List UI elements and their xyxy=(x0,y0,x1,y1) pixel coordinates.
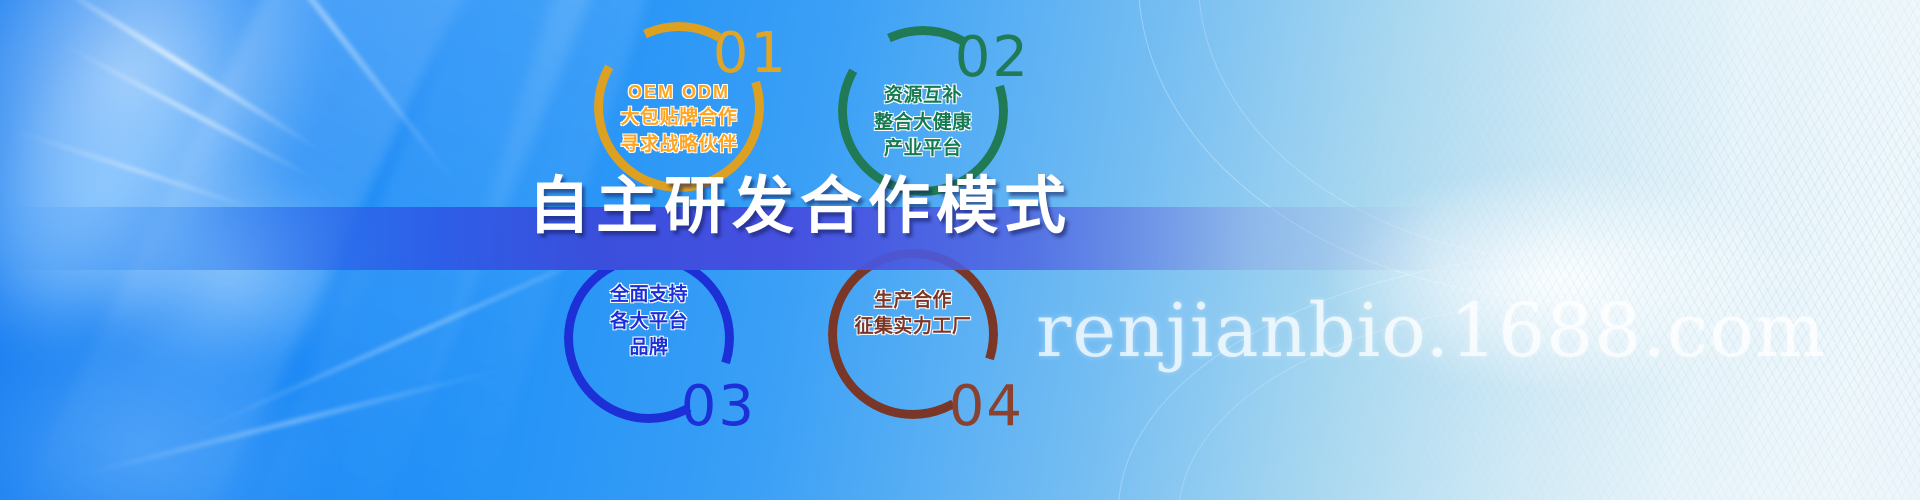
circle-line: 整合大健康 xyxy=(874,112,972,134)
light-streak xyxy=(35,0,326,155)
circle-line: 品牌 xyxy=(629,337,668,359)
feature-circle-01: 01 OEM ODM 大包贴牌合作 寻求战略伙伴 xyxy=(594,22,764,192)
circle-line: 资源互补 xyxy=(884,85,962,107)
right-glow xyxy=(1240,130,1880,430)
feature-circle-04: 04 生产合作 征集实力工厂 xyxy=(828,249,998,419)
circle-line: 全面支持 xyxy=(610,284,688,306)
promo-banner: 01 OEM ODM 大包贴牌合作 寻求战略伙伴 02 资源互补 整合大健康 产… xyxy=(0,0,1920,500)
circle-line: 大包贴牌合作 xyxy=(620,107,737,129)
circle-line: 生产合作 xyxy=(874,290,952,312)
light-streak xyxy=(198,0,461,190)
light-streak xyxy=(6,127,273,216)
watermark-text: renjianbio.1688.com xyxy=(1036,288,1826,374)
circle-line: 寻求战略伙伴 xyxy=(620,134,737,156)
feature-circle-03: 03 全面支持 各大平台 品牌 xyxy=(564,253,734,423)
circle-line: 产业平台 xyxy=(884,138,962,160)
circle-line: OEM ODM xyxy=(628,82,730,103)
swirl-shape xyxy=(0,250,400,500)
swirl-shape xyxy=(0,73,462,466)
light-streak xyxy=(66,364,514,480)
light-streak xyxy=(57,40,324,184)
circle-line: 各大平台 xyxy=(610,311,688,333)
page-title: 自主研发合作模式 xyxy=(528,176,1072,238)
feature-circle-02: 02 资源互补 整合大健康 产业平台 xyxy=(838,26,1008,196)
circle-line: 征集实力工厂 xyxy=(854,316,971,338)
